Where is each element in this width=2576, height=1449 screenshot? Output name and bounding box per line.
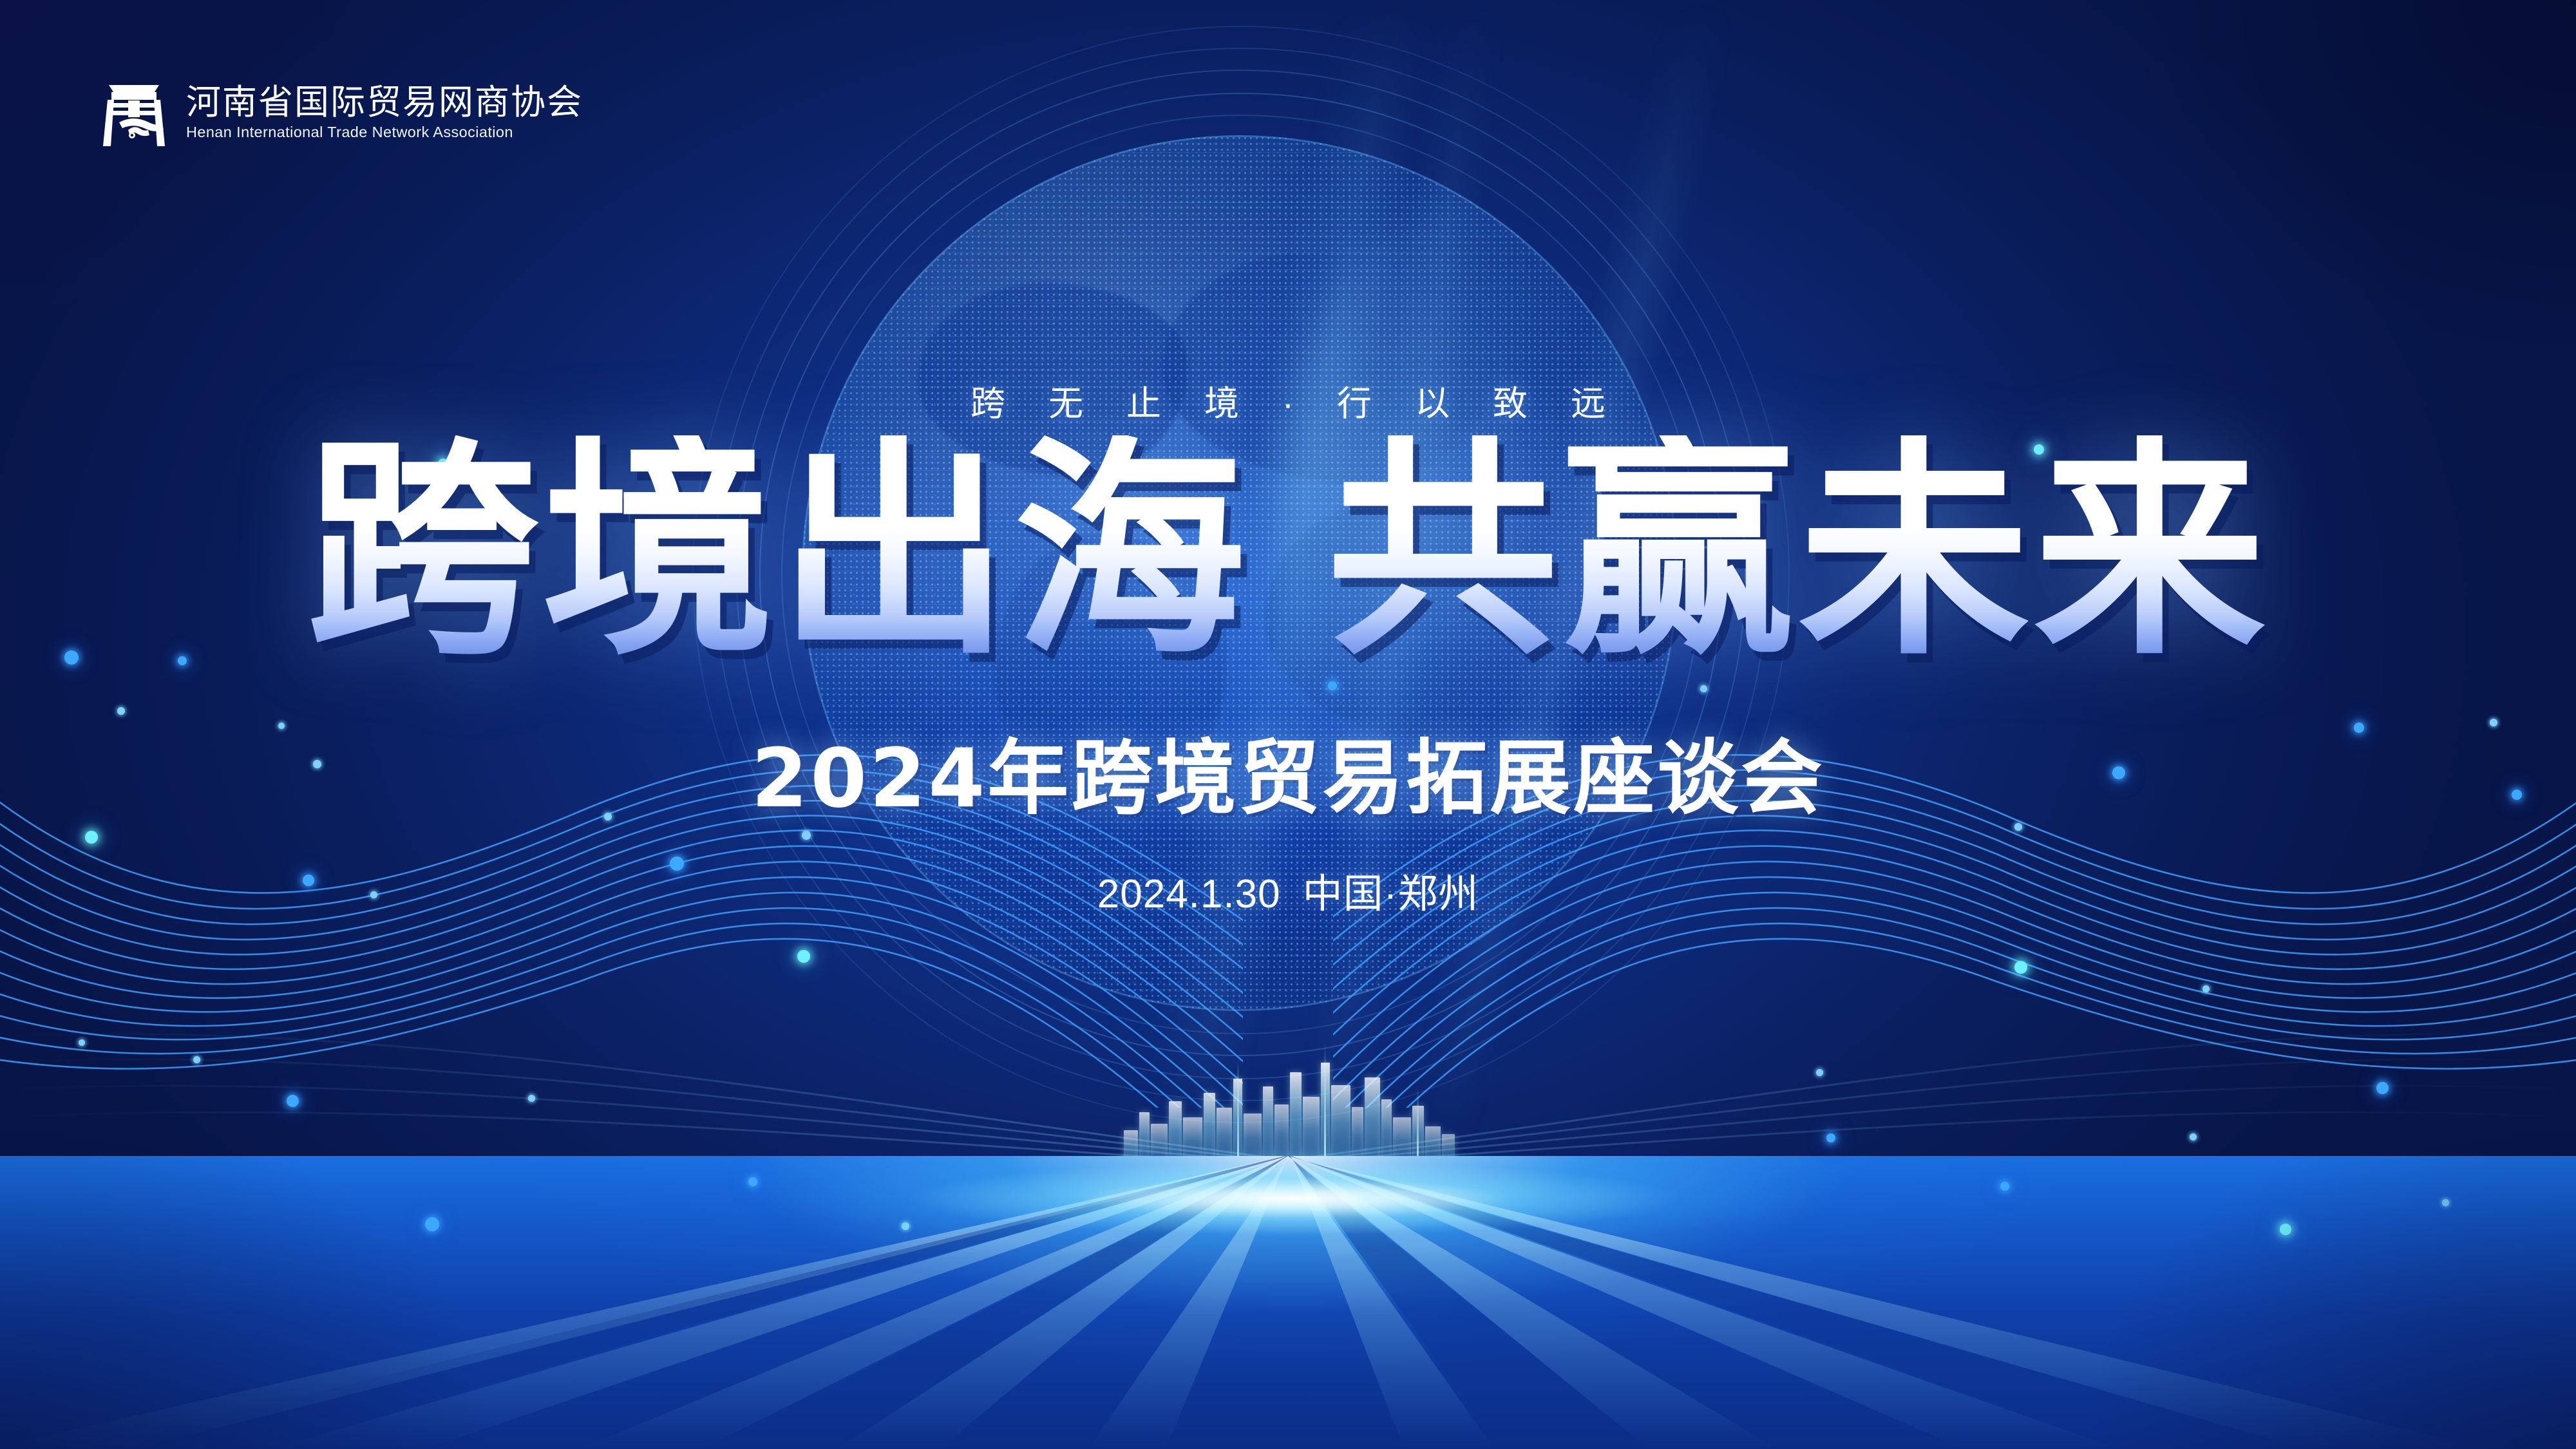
event-date: 2024.1.30 (1097, 872, 1281, 916)
association-name-en: Henan International Trade Network Associ… (186, 124, 583, 141)
event-location: 中国·郑州 (1303, 872, 1479, 916)
event-subtitle: 2024年跨境贸易拓展座谈会 (0, 738, 2576, 819)
horizon-glow (650, 1095, 1938, 1262)
page-title: 跨境出海共赢未来 (0, 435, 2576, 667)
title-part-2: 共赢未来 (1327, 435, 2269, 667)
seal-shang-character-logo-icon (100, 77, 168, 148)
title-part-1: 跨境出海 (307, 435, 1249, 667)
association-logo[interactable]: 河南省国际贸易网商协会 Henan International Trade Ne… (100, 77, 583, 148)
association-name-cn: 河南省国际贸易网商协会 (186, 84, 583, 121)
date-location-bar: 2024.1.30中国·郑州 (0, 875, 2576, 914)
event-poster: 河南省国际贸易网商协会 Henan International Trade Ne… (0, 0, 2576, 1449)
